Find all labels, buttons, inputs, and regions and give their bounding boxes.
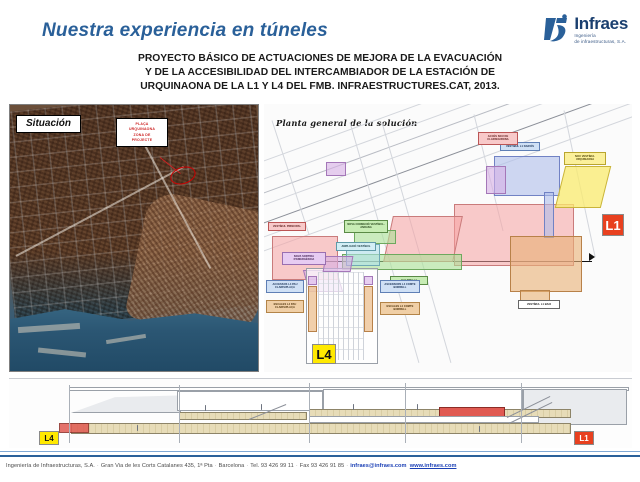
subtitle-line-2: Y DE LA ACCESIBILIDAD DEL INTERCAMBIADOR… [58,66,582,80]
label-sortida-emergencia: NOVA SORTIDA D'EMERGÈNCIA [282,252,326,265]
label-ampliacio-vestibul: AMPLIACIÓ VESTÍBUL [336,242,376,251]
subtitle-line-3: URQUINAONA DE LA L1 Y L4 DEL FMB. INFRAE… [58,80,582,94]
zone-l4-acces-top [323,256,354,272]
zone-narcis-shaft [544,192,554,238]
project-subtitle: PROYECTO BÁSICO DE ACTUACIONES DE MEJORA… [0,52,640,95]
label-escales-l4-comte: ESCALES L4 COMTE BORRELL [380,302,420,315]
zone-narcis-annex [486,166,506,194]
infraes-logo-icon [544,14,570,44]
zone-l4-ascensor-a [308,276,317,285]
logo-text-block: Infraes Ingeniería de infraestructuras, … [574,14,628,44]
section-grid-tick [521,383,522,443]
section-person [137,425,138,431]
section-platform-mid [179,412,307,420]
footer-tel: Tel. 93 426 99 11 [250,463,294,469]
logo-sub-line2: de infraestructuras, S.A. [574,40,628,45]
logo-sub-line1: Ingeniería [574,34,628,39]
footer-website-link[interactable]: www.infraes.com [410,463,457,469]
section-person [205,405,206,411]
section-badge-l4: L4 [39,431,59,445]
label-acces-claris-girona: ACCÉS NOU DE CLARIS/GIRONA [478,132,518,145]
footer-company: Ingeniería de Infraestructuras, S.A. [6,463,95,469]
footer-city: Barcelona [219,463,245,469]
section-grid-tick [405,383,406,443]
footer-address: Gran Via de les Corts Catalanes 435, 1ª … [101,463,213,469]
situation-badge: Situación [16,115,81,133]
footer-rule-bottom [0,455,640,457]
section-lower-void [309,416,539,423]
general-plan: Planta general de la solución VESTÍBUL L… [264,104,632,372]
section-platform-l4 [71,423,571,434]
logo-name: Infraes [574,15,628,32]
section-grid-tick [179,385,180,443]
zone-l4-ascensor-b [364,276,373,285]
section-grid-tick [309,383,310,443]
zone-acces-purple [326,162,346,176]
zone-acces-groc [555,166,611,208]
situation-map: Situación PLAÇA URQUINAONA ZONA DE PROJE… [9,104,259,372]
section-end-arrow [589,253,595,261]
label-ascensors-l4-comte: ASCENSORS L4 COMTE BORRELL [380,280,420,293]
label-escales-l4-pau: ESCALES L4 PAU CLARIS/PLAÇA [266,300,304,313]
label-nou-vestibul: NOU VESTÍBUL URQUINAONA [564,152,606,165]
footer-email-link[interactable]: infraes@infraes.com [350,463,406,469]
section-person [479,426,480,432]
plan-badge-l4: L4 [312,344,336,364]
label-nova-connexio: NOVA CONNEXIÓ VESTÍBUL-ANDANA [344,220,388,233]
footer-rule-top [0,451,640,452]
footer-fax: Fax 93 426 91 85 [300,463,345,469]
label-vestibul-principal: VESTÍBUL PRINCIPAL [268,222,306,231]
plan-badge-l1: L1 [602,214,624,236]
section-person [353,404,354,410]
label-accessos-l4-pau: ACCESSOS L4 PAU CLARIS/PLAÇA [266,280,304,293]
callout-line-4: PROJECTE [121,138,163,143]
section-l4-train [59,423,89,433]
label-vestibul-l1-baix: VESTÍBUL L1 BAIX [518,300,560,309]
longitudinal-section: L4 L1 [9,378,632,448]
zone-l4-escales-left [308,286,317,332]
map-callout-box: PLAÇA URQUINAONA ZONA DE PROJECTE [116,118,168,147]
footer: Ingeniería de Infraestructuras, S.A.·Gra… [6,463,456,469]
section-person [261,404,262,410]
company-logo: Infraes Ingeniería de infraestructuras, … [544,14,628,44]
zone-vestibul-l1-baix [510,236,582,292]
section-person [417,404,418,410]
zone-l4-escales-right [364,286,373,332]
page-title: Nuestra experiencia en túneles [42,20,328,42]
section-badge-l1: L1 [574,431,594,445]
section-grid-tick [69,385,70,443]
subtitle-line-1: PROYECTO BÁSICO DE ACTUACIONES DE MEJORA… [58,52,582,66]
section-upper-hall [177,391,323,411]
plan-title: Planta general de la solución [276,118,417,128]
